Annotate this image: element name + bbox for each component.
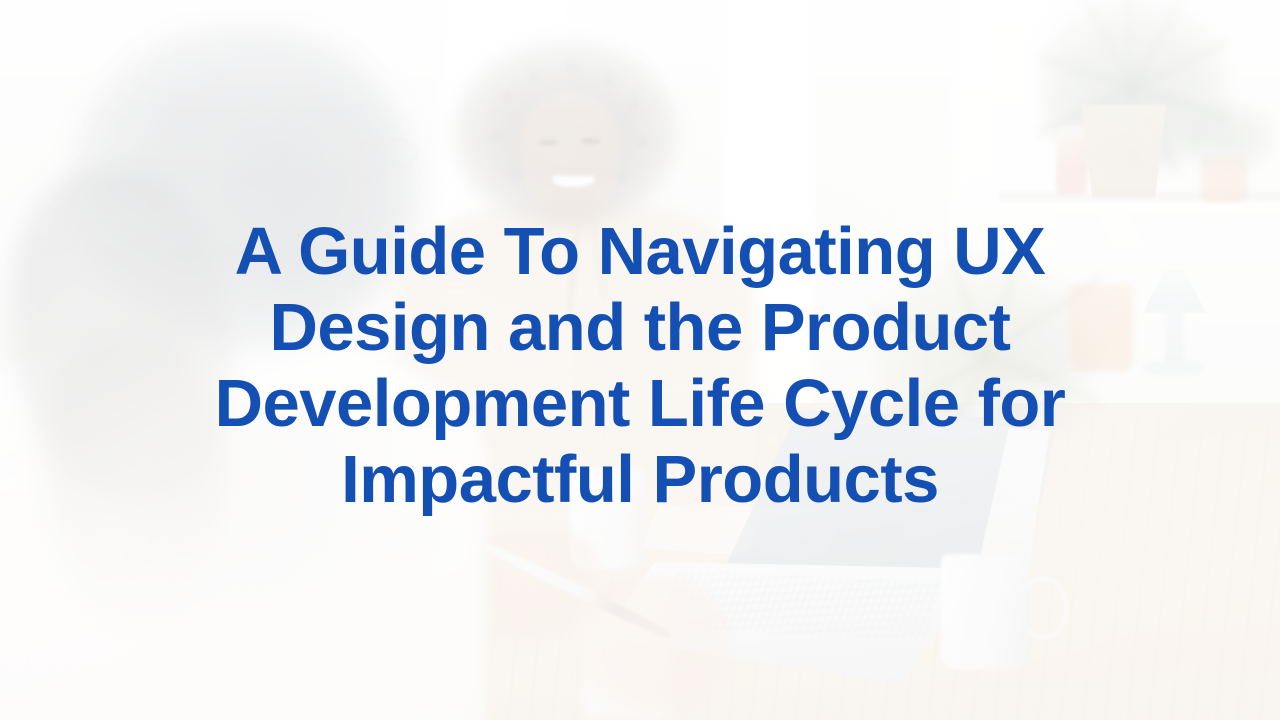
title-line-2: Design and the Product (140, 290, 1140, 366)
page-title: A Guide To Navigating UX Design and the … (140, 214, 1140, 518)
title-line-4: Impactful Products (140, 442, 1140, 518)
blog-header-hero: A Guide To Navigating UX Design and the … (0, 0, 1280, 720)
title-line-3: Development Life Cycle for (140, 366, 1140, 442)
title-container: A Guide To Navigating UX Design and the … (0, 0, 1280, 720)
title-line-1: A Guide To Navigating UX (140, 214, 1140, 290)
